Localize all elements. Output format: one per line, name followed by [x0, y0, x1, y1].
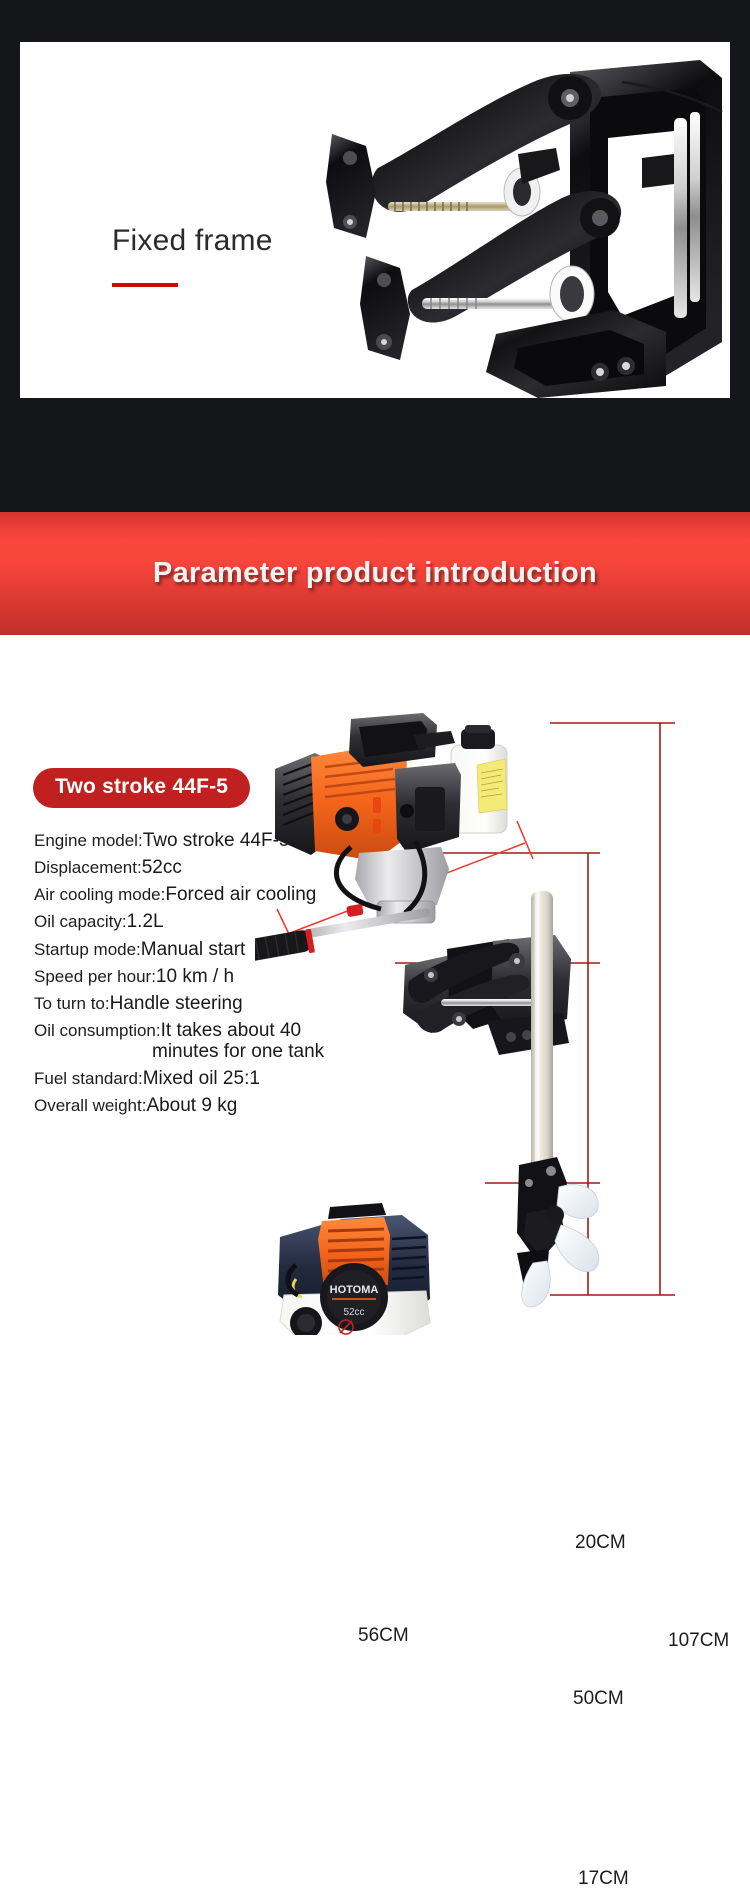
- model-badge: Two stroke 44F-5: [33, 768, 250, 808]
- spec-label: Oil capacity:: [34, 912, 127, 931]
- dimension-label-20cm: 20CM: [575, 1532, 626, 1554]
- dimension-label-50cm: 50CM: [573, 1688, 624, 1710]
- section-banner: Parameter product introduction: [0, 512, 750, 635]
- hero-caption: Fixed frame: [112, 224, 442, 287]
- engine-displacement-text: 52cc: [343, 1307, 364, 1318]
- hero-photo-panel: Fixed frame: [20, 42, 730, 398]
- engine-inset-photo: HOTOMA 52cc: [278, 1203, 430, 1335]
- spec-value: 1.2L: [127, 911, 164, 932]
- spec-label: To turn to:: [34, 994, 110, 1013]
- spec-label: Startup mode:: [34, 940, 141, 959]
- spec-label: Fuel standard:: [34, 1069, 143, 1088]
- spec-value: 52cc: [142, 857, 182, 878]
- dimension-label-17cm: 17CM: [578, 1868, 629, 1890]
- page-title: Fixed frame: [112, 224, 442, 257]
- title-underline-rule: [112, 283, 178, 287]
- spec-label: Overall weight:: [34, 1096, 146, 1115]
- spec-value: Handle steering: [110, 993, 243, 1014]
- lower-unit: [517, 1157, 599, 1307]
- spec-label: Air cooling mode:: [34, 885, 165, 904]
- hero-section: Fixed frame: [0, 0, 750, 512]
- spec-label: Engine model:: [34, 831, 143, 850]
- banner-title: Parameter product introduction: [153, 557, 597, 590]
- spec-section: Two stroke 44F-5 Engine model:Two stroke…: [0, 635, 750, 1335]
- spec-label: Speed per hour:: [34, 967, 156, 986]
- dimension-label-107cm: 107CM: [668, 1630, 729, 1652]
- spec-value: About 9 kg: [146, 1095, 237, 1116]
- engine-brand-text: HOTOMA: [330, 1284, 379, 1296]
- spec-value: Manual start: [141, 939, 246, 960]
- spec-label: Displacement:: [34, 858, 142, 877]
- fixed-frame-photo: [270, 42, 730, 398]
- spec-value: Mixed oil 25:1: [143, 1068, 260, 1089]
- spec-value: 10 km / h: [156, 966, 234, 987]
- spec-label: Oil consumption:: [34, 1021, 161, 1040]
- outboard-motor-diagram: HOTOMA 52cc: [255, 713, 750, 1335]
- dimension-label-56cm: 56CM: [358, 1625, 409, 1647]
